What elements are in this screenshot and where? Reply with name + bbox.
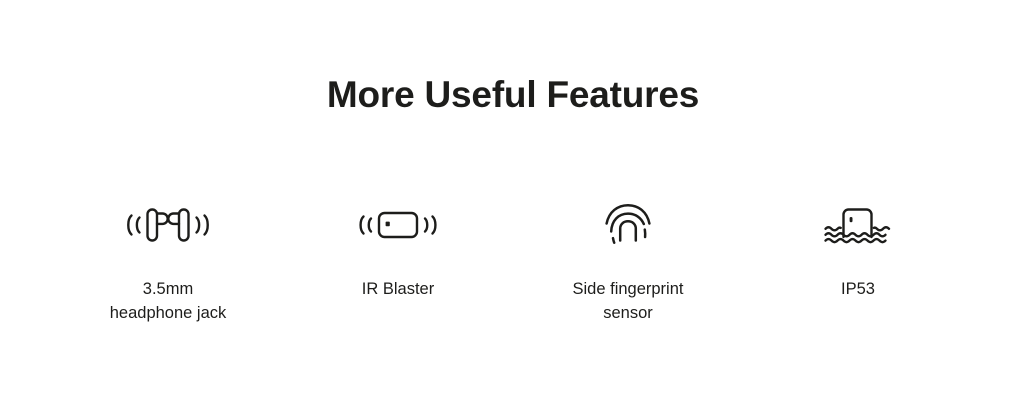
fingerprint-icon	[602, 196, 654, 254]
feature-label: IP53	[841, 277, 875, 301]
water-resistance-icon	[820, 196, 896, 254]
feature-item-fingerprint: Side fingerprint sensor	[520, 196, 736, 325]
feature-item-ip53: IP53	[750, 196, 966, 301]
page-title: More Useful Features	[0, 72, 1026, 118]
feature-label: Side fingerprint sensor	[573, 277, 684, 325]
feature-item-ir-blaster: IR Blaster	[290, 196, 506, 301]
feature-label: 3.5mm headphone jack	[110, 277, 227, 325]
feature-item-headphone-jack: 3.5mm headphone jack	[60, 196, 276, 325]
feature-label: IR Blaster	[362, 277, 434, 301]
earbuds-icon	[119, 196, 217, 254]
ir-blaster-icon	[355, 196, 441, 254]
more-useful-features-section: More Useful Features	[0, 0, 1026, 407]
features-row: 3.5mm headphone jack IR Blaster	[60, 196, 966, 325]
